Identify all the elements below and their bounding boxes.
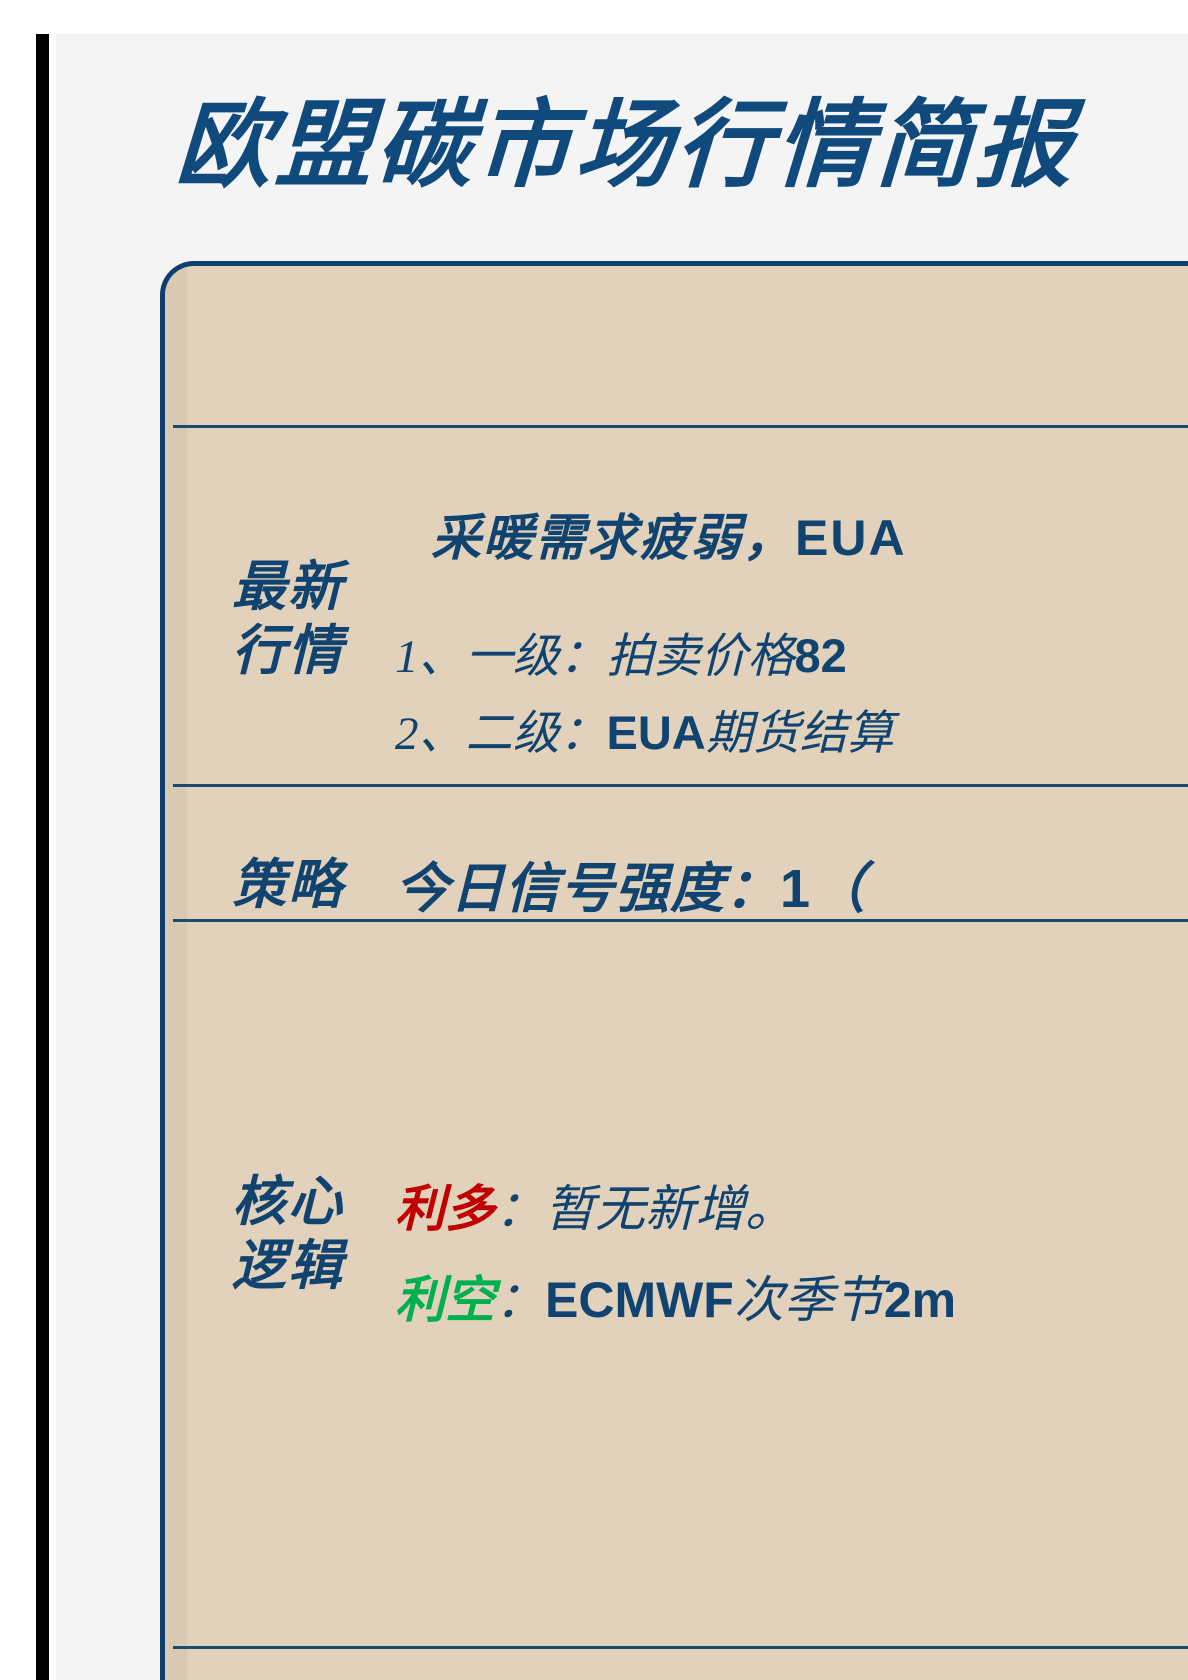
row-label-core-line2: 逻辑 (193, 1235, 383, 1299)
bearish-text-cn: 次季节 (734, 1272, 884, 1328)
bullish-tag: 利多 (395, 1181, 495, 1237)
list-item: 2、二级：EUA期货结算 (395, 695, 1188, 772)
latest-market-items: 1、一级：拍卖价格82 2、二级：EUA期货结算 (395, 618, 1188, 772)
item-2-prefix: 2、二级： (395, 708, 607, 760)
bullish-line: 利多：暂无新增。 (395, 1164, 1188, 1255)
item-1-value: 82 (795, 629, 847, 682)
divider-core (173, 1646, 1188, 1649)
divider-latest (173, 784, 1188, 787)
row-label-core-logic: 核心 逻辑 (193, 1171, 383, 1298)
row-label-latest-market: 最新 行情 (193, 556, 383, 683)
row-label-latest-line1: 最新 (193, 556, 383, 620)
briefing-card: 最新 行情 采暖需求疲弱，EUA 1、一级：拍卖价格82 2、二级：EUA期货结… (160, 261, 1188, 1680)
item-1-prefix: 1、一级：拍卖价格 (395, 631, 795, 683)
latest-market-headline: 采暖需求疲弱，EUA (395, 498, 1188, 570)
document-page: 欧盟碳市场行情简报 最新 行情 采暖需求疲弱，EUA 1、一级：拍卖价格82 2… (56, 34, 1188, 1680)
left-white-margin (0, 0, 36, 1680)
left-gutter (49, 0, 56, 1680)
item-2-value: EUA (607, 706, 706, 759)
row-label-core-line1: 核心 (193, 1171, 383, 1235)
strategy-content: 今日信号强度：1（ (395, 844, 1188, 923)
bearish-separator: ： (495, 1272, 545, 1328)
page-title: 欧盟碳市场行情简报 (173, 86, 1079, 206)
divider-header (173, 425, 1188, 428)
signal-label: 今日信号强度： (395, 859, 780, 919)
bearish-tag: 利空 (395, 1272, 495, 1328)
headline-cn-text: 采暖需求疲弱， (431, 510, 795, 566)
bullish-text: 暂无新增。 (545, 1181, 795, 1237)
screenshot-viewport: 欧盟碳市场行情简报 最新 行情 采暖需求疲弱，EUA 1、一级：拍卖价格82 2… (0, 0, 1188, 1680)
row-label-strategy-line1: 策略 (193, 854, 383, 918)
bearish-text-tail: 2m (884, 1272, 956, 1328)
list-item: 1、一级：拍卖价格82 (395, 618, 1188, 695)
row-label-strategy: 策略 (193, 854, 383, 918)
signal-suffix: （ (811, 859, 866, 919)
bullish-separator: ： (495, 1181, 545, 1237)
core-logic-content: 利多：暂无新增。 利空：ECMWF次季节2m (395, 1164, 1188, 1346)
label-column-band (165, 266, 187, 1680)
bearish-line: 利空：ECMWF次季节2m (395, 1255, 1188, 1346)
left-black-bar (36, 34, 49, 1680)
bearish-text-ascii: ECMWF (545, 1272, 734, 1328)
row-label-latest-line2: 行情 (193, 620, 383, 684)
signal-strength-value: 1 (780, 859, 811, 919)
headline-ascii-text: EUA (795, 510, 907, 566)
item-2-suffix: 期货结算 (706, 708, 894, 760)
